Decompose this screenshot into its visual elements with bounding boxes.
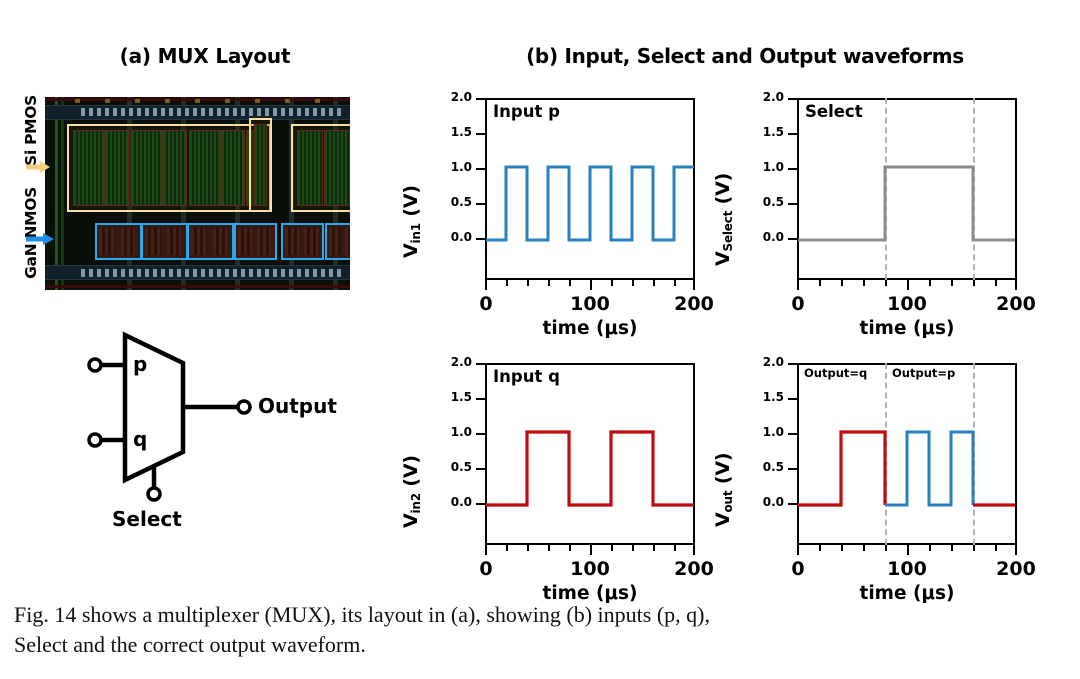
plot-output-trace-q-first (798, 432, 885, 505)
plot-output-xlabel-100: 100 (878, 558, 936, 580)
plot-select-tag: Select (805, 102, 863, 121)
mux-input-q-terminal (89, 434, 101, 446)
plot-input-p-xlabel-100: 100 (561, 293, 619, 315)
plot-output-xlabel-200: 200 (987, 558, 1045, 580)
figure-caption-line-1: Fig. 14 shows a multiplexer (MUX), its l… (14, 600, 1072, 630)
mux-label-select: Select (112, 507, 182, 531)
plot-output-trace-p (885, 432, 973, 505)
plot-input-p-tag: Input p (493, 102, 560, 121)
plot-output-annotation-p: Output=p (892, 366, 955, 380)
layout-pad-row (45, 97, 350, 290)
mux-layout-micrograph (45, 97, 350, 290)
plot-select-trace (710, 90, 1020, 290)
row-label-si-pmos: Si PMOS (22, 95, 40, 166)
mux-label-output: Output (258, 394, 337, 418)
mux-select-terminal (148, 488, 160, 500)
plot-output-annotation-q: Output=q (804, 366, 867, 380)
plot-input-p-xaxis-title: time (μs) (530, 318, 650, 339)
mux-label-p: p (133, 352, 147, 376)
plot-select-xlabel-0: 0 (777, 293, 819, 315)
figure-caption-line-2: Select and the correct output waveform. (14, 630, 1072, 660)
plot-input-p-xlabel-0: 0 (465, 293, 507, 315)
panel-b-title: (b) Input, Select and Output waveforms (420, 44, 1070, 68)
plot-input-q-xlabel-100: 100 (561, 558, 619, 580)
figure-caption: Fig. 14 shows a multiplexer (MUX), its l… (14, 600, 1072, 660)
mux-output-terminal (238, 401, 250, 413)
plot-output-xlabel-0: 0 (777, 558, 819, 580)
mux-label-q: q (133, 427, 147, 451)
plot-select-xlabel-200: 200 (987, 293, 1045, 315)
plot-output-traces (710, 355, 1020, 555)
layout-row-labels: Si PMOS GaN NMOS (14, 95, 44, 293)
plot-select-xlabel-100: 100 (878, 293, 936, 315)
plot-input-p-xlabel-200: 200 (665, 293, 723, 315)
mux-symbol-svg (55, 330, 385, 555)
plot-input-q-xlabel-200: 200 (665, 558, 723, 580)
nmos-pointer-arrow-icon (26, 232, 56, 246)
mux-symbol-diagram: p q Output Select (55, 330, 385, 555)
plot-select-xaxis-title: time (μs) (847, 318, 967, 339)
plot-input-q-xlabel-0: 0 (465, 558, 507, 580)
plot-input-q-tag: Input q (493, 367, 560, 386)
pmos-pointer-arrow-icon (26, 160, 52, 174)
panel-a-title: (a) MUX Layout (60, 44, 350, 68)
mux-input-p-terminal (89, 359, 101, 371)
